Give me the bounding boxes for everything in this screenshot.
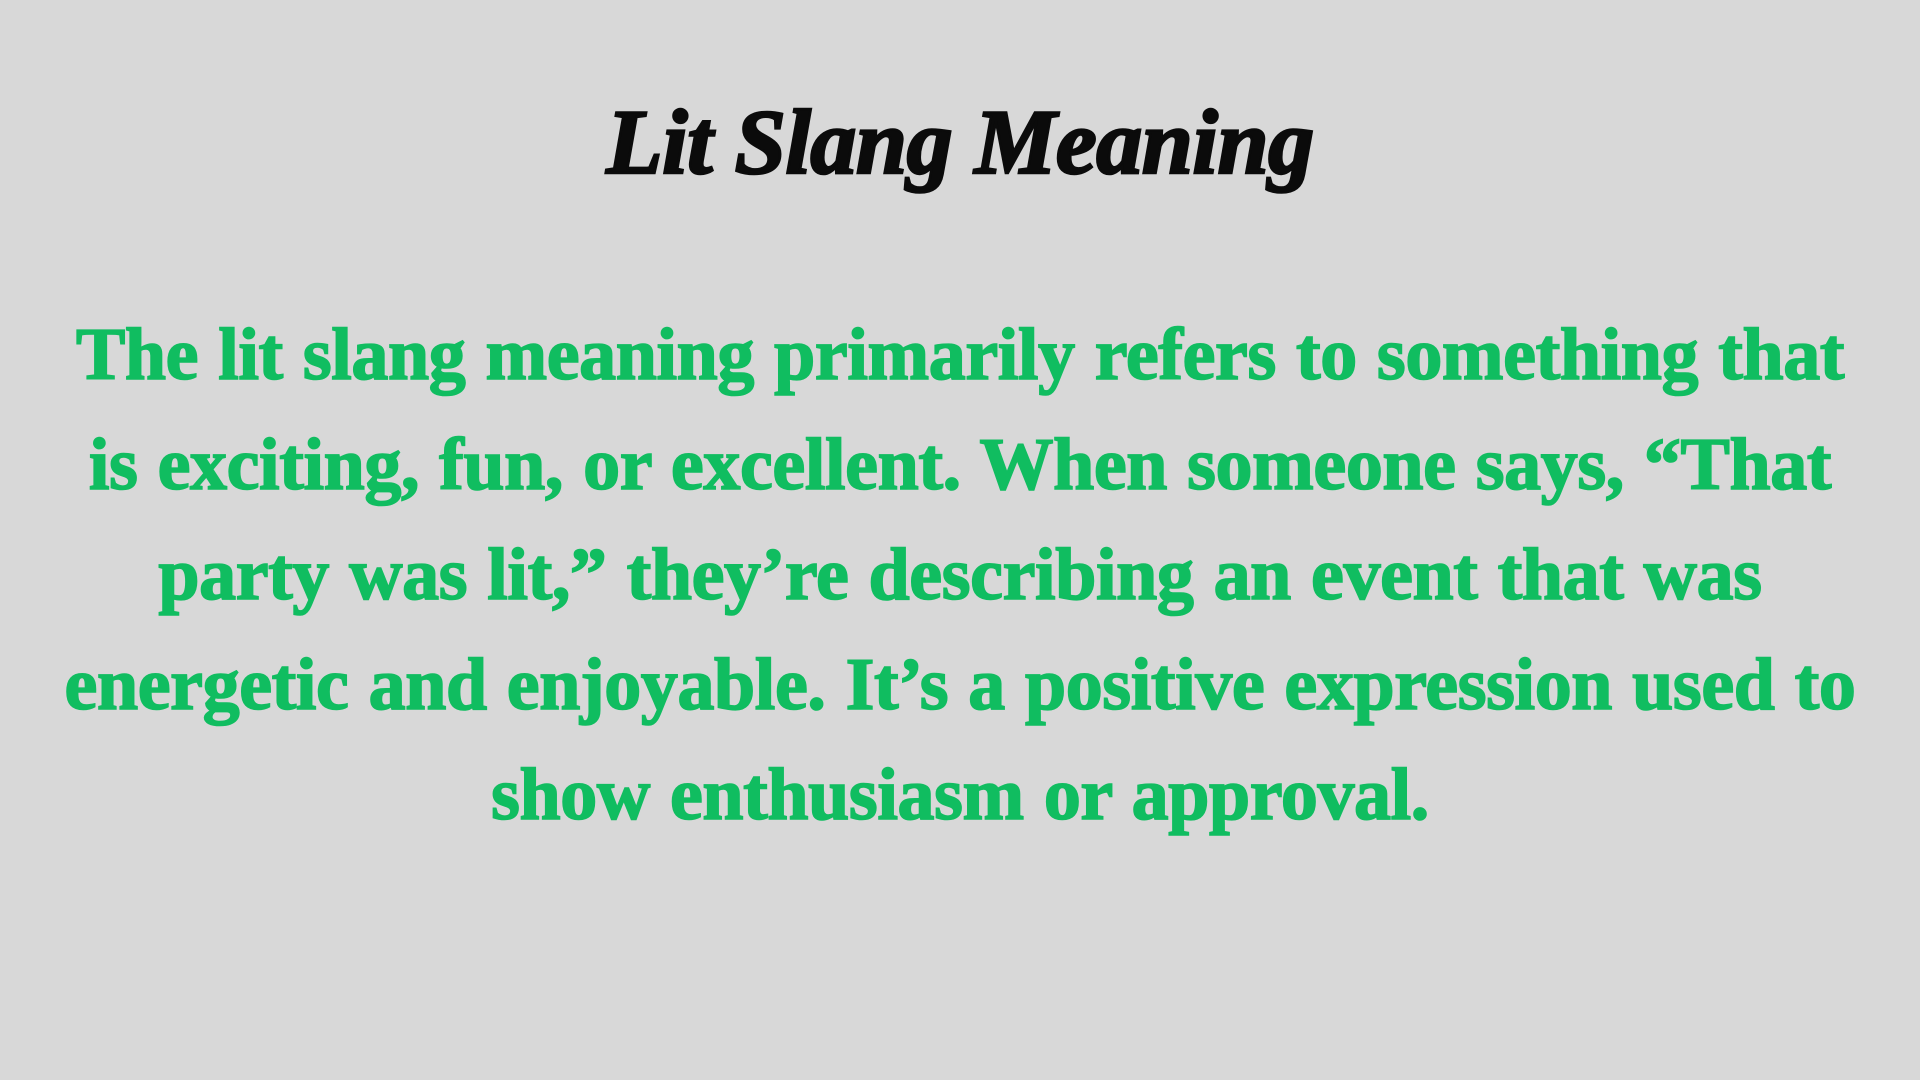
page-title: Lit Slang Meaning bbox=[0, 96, 1920, 188]
slide-canvas: Lit Slang Meaning The lit slang meaning … bbox=[0, 0, 1920, 1080]
definition-paragraph: The lit slang meaning primarily refers t… bbox=[45, 300, 1875, 850]
body-text-container: The lit slang meaning primarily refers t… bbox=[0, 300, 1920, 850]
